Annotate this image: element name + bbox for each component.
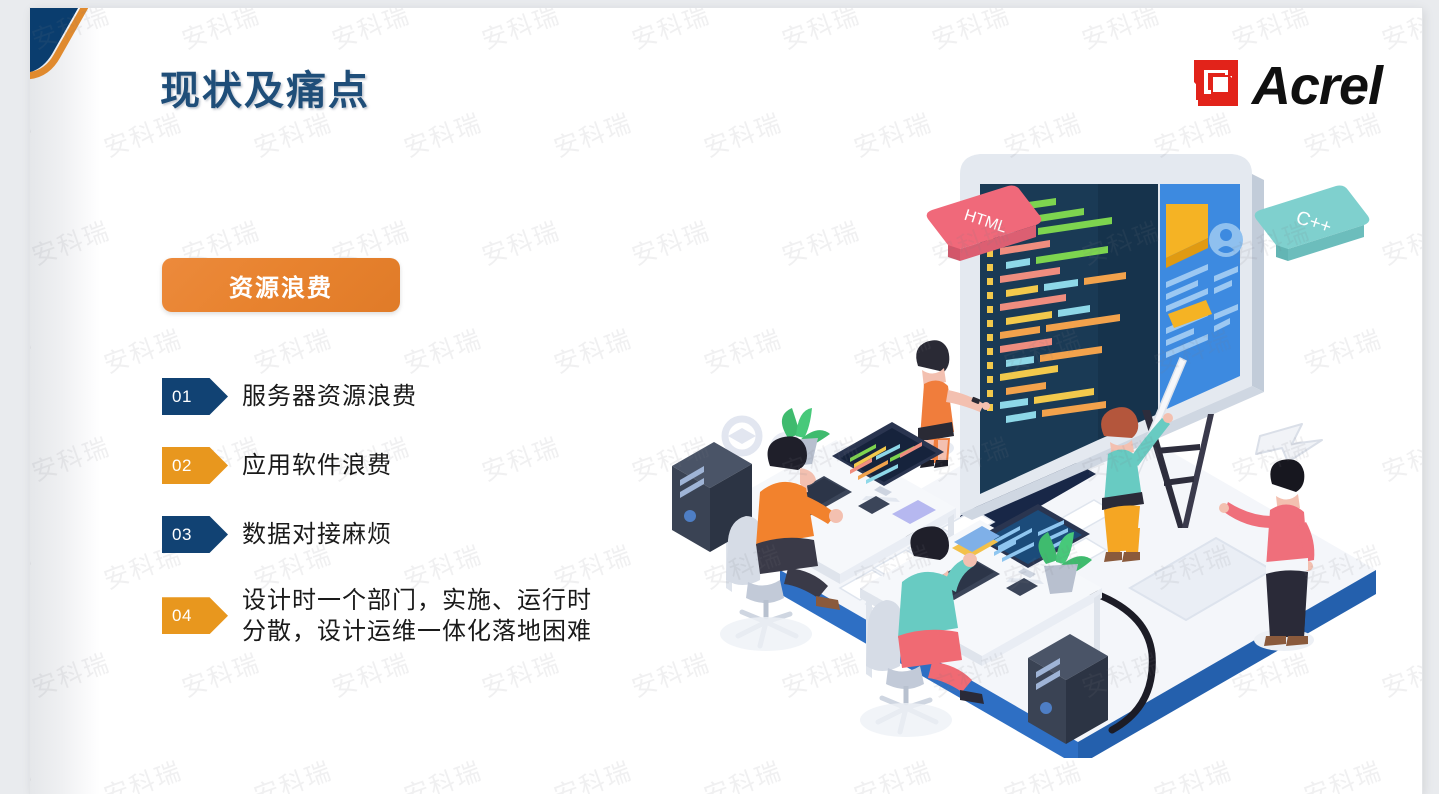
watermark-text: 安科瑞 <box>548 103 636 165</box>
watermark-text: 安科瑞 <box>476 8 564 57</box>
watermark-text: 安科瑞 <box>98 751 186 794</box>
watermark-text: 安科瑞 <box>98 319 186 381</box>
watermark-text: 安科瑞 <box>248 319 336 381</box>
point-text-line: 应用软件浪费 <box>242 450 392 481</box>
watermark-text: 安科瑞 <box>476 211 564 273</box>
list-item: 01 服务器资源浪费 <box>162 378 692 415</box>
watermark-text: 安科瑞 <box>548 319 636 381</box>
point-text: 设计时一个部门，实施、运行时 分散，设计运维一体化落地困难 <box>242 585 592 646</box>
point-text: 数据对接麻烦 <box>242 519 392 550</box>
brand-logo: Acrel <box>1188 56 1382 115</box>
point-number: 02 <box>172 456 192 476</box>
screenshot-stage: 现状及痛点 Acrel <box>0 0 1439 794</box>
section-pill: 资源浪费 <box>162 258 400 312</box>
watermark-text: 安科瑞 <box>248 751 336 794</box>
watermark-text: 安科瑞 <box>1226 8 1314 57</box>
point-number: 04 <box>172 606 192 626</box>
watermark-text: 安科瑞 <box>398 751 486 794</box>
list-item: 04 设计时一个部门，实施、运行时 分散，设计运维一体化落地困难 <box>162 585 692 646</box>
point-text: 应用软件浪费 <box>242 450 392 481</box>
point-text-line: 设计时一个部门，实施、运行时 <box>242 585 592 616</box>
list-item: 03 数据对接麻烦 <box>162 516 692 553</box>
watermark-text: 安科瑞 <box>1076 8 1164 57</box>
brand-logo-text: Acrel <box>1252 59 1382 113</box>
isometric-illustration: HTML C++ <box>660 118 1422 758</box>
watermark-text: 安科瑞 <box>30 535 37 597</box>
watermark-text: 安科瑞 <box>30 751 37 794</box>
point-number: 03 <box>172 525 192 545</box>
watermark-text: 安科瑞 <box>30 319 37 381</box>
watermark-text: 安科瑞 <box>398 319 486 381</box>
point-number-badge: 04 <box>162 597 228 634</box>
watermark-text: 安科瑞 <box>926 8 1014 57</box>
watermark-text: 安科瑞 <box>398 103 486 165</box>
watermark-text: 安科瑞 <box>626 8 714 57</box>
slide-canvas: 现状及痛点 Acrel <box>30 8 1422 794</box>
watermark-text: 安科瑞 <box>30 643 115 705</box>
point-text-line: 服务器资源浪费 <box>242 381 417 412</box>
section-pill-label: 资源浪费 <box>229 268 333 303</box>
acrel-mark-icon <box>1188 56 1242 115</box>
pain-point-list: 01 服务器资源浪费 02 应用软件浪费 03 数据对接麻烦 <box>162 378 692 678</box>
point-number-badge: 02 <box>162 447 228 484</box>
tag-cpp: C++ <box>1255 186 1370 262</box>
point-number-badge: 01 <box>162 378 228 415</box>
point-number: 01 <box>172 387 192 407</box>
point-text-line: 数据对接麻烦 <box>242 519 392 550</box>
watermark-text: 安科瑞 <box>30 211 115 273</box>
watermark-text: 安科瑞 <box>548 751 636 794</box>
watermark-text: 安科瑞 <box>326 8 414 57</box>
watermark-text: 安科瑞 <box>1376 8 1422 57</box>
watermark-text: 安科瑞 <box>776 8 864 57</box>
page-title: 现状及痛点 <box>160 58 370 116</box>
watermark-text: 安科瑞 <box>30 427 115 489</box>
point-text: 服务器资源浪费 <box>242 381 417 412</box>
point-text-line: 分散，设计运维一体化落地困难 <box>242 616 592 647</box>
point-number-badge: 03 <box>162 516 228 553</box>
list-item: 02 应用软件浪费 <box>162 447 692 484</box>
